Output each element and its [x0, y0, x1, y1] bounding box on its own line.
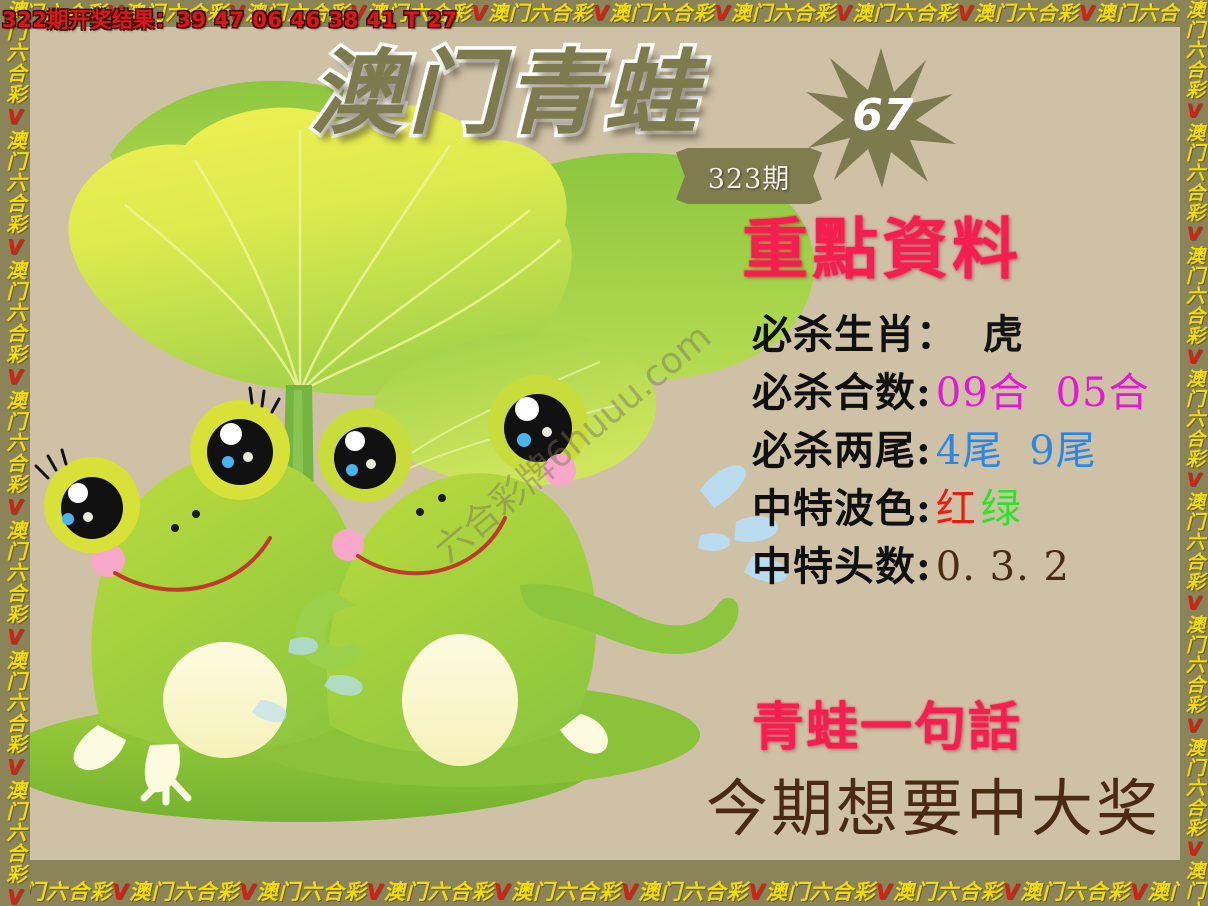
row-zodiac-kill-value: 虎 — [983, 306, 1024, 364]
row-wave-color-value-a: 红 — [936, 480, 977, 538]
row-head-number-value: 0. 3. 2 — [936, 538, 1070, 596]
border-right: 澳门六合彩V澳门六合彩V澳门六合彩V澳门六合彩V澳门六合彩V澳门六合彩V澳门六合… — [1180, 0, 1208, 906]
row-tail-kill-value-b: 9尾 — [1029, 422, 1096, 480]
row-tail-kill-value-a: 4尾 — [936, 422, 1003, 480]
issue-ribbon: 323期 — [676, 148, 822, 204]
page-title: 澳门青蛙 — [310, 44, 702, 144]
row-sum-kill-value-a: 09合 — [936, 364, 1030, 422]
starburst-icon — [806, 48, 956, 188]
row-wave-color-label: 中特波色: — [752, 480, 932, 538]
row-sum-kill-label: 必杀合数: — [752, 364, 932, 422]
row-wave-color: 中特波色: 红 绿 — [752, 480, 1208, 538]
row-sum-kill-value-b: 05合 — [1056, 364, 1150, 422]
row-wave-color-value-b: 绿 — [981, 480, 1022, 538]
row-head-number: 中特头数: 0. 3. 2 — [752, 538, 1208, 596]
border-bottom-text: 澳门六合彩V澳门六合彩V澳门六合彩V澳门六合彩V澳门六合彩V澳门六合彩V澳门六合… — [2, 880, 1208, 904]
key-data-list: 必杀生肖： 虎 必杀合数: 09合 05合 必杀两尾: 4尾 9尾 中特波色: … — [752, 306, 1208, 596]
lottery-poster: 六合彩牌6huuu.com 澳门青蛙 67 323期 重點資料 必杀生肖： 虎 … — [0, 0, 1208, 906]
border-left: 澳门六合彩V澳门六合彩V澳门六合彩V澳门六合彩V澳门六合彩V澳门六合彩V澳门六合… — [0, 0, 30, 906]
row-zodiac-kill: 必杀生肖： 虎 — [752, 306, 1208, 364]
section-heading: 重點資料 — [742, 215, 1022, 285]
slogan-body: 今期想要中大奖 — [706, 775, 1161, 843]
row-head-number-label: 中特头数: — [752, 538, 932, 596]
row-tail-kill: 必杀两尾: 4尾 9尾 — [752, 422, 1208, 480]
border-bottom: 澳门六合彩V澳门六合彩V澳门六合彩V澳门六合彩V澳门六合彩V澳门六合彩V澳门六合… — [0, 860, 1208, 906]
previous-result-text: 322期开奖结果：39 47 06 46 38 41 T 27 — [2, 4, 457, 34]
row-tail-kill-label: 必杀两尾: — [752, 422, 932, 480]
row-sum-kill: 必杀合数: 09合 05合 — [752, 364, 1208, 422]
border-right-text: 澳门六合彩V澳门六合彩V澳门六合彩V澳门六合彩V澳门六合彩V澳门六合彩V澳门六合… — [1181, 0, 1207, 906]
border-left-text: 澳门六合彩V澳门六合彩V澳门六合彩V澳门六合彩V澳门六合彩V澳门六合彩V澳门六合… — [2, 0, 28, 906]
row-zodiac-kill-label: 必杀生肖： — [752, 306, 957, 364]
slogan-title: 青蛙一句話 — [752, 700, 1022, 756]
issue-ribbon-text: 323期 — [708, 157, 791, 196]
